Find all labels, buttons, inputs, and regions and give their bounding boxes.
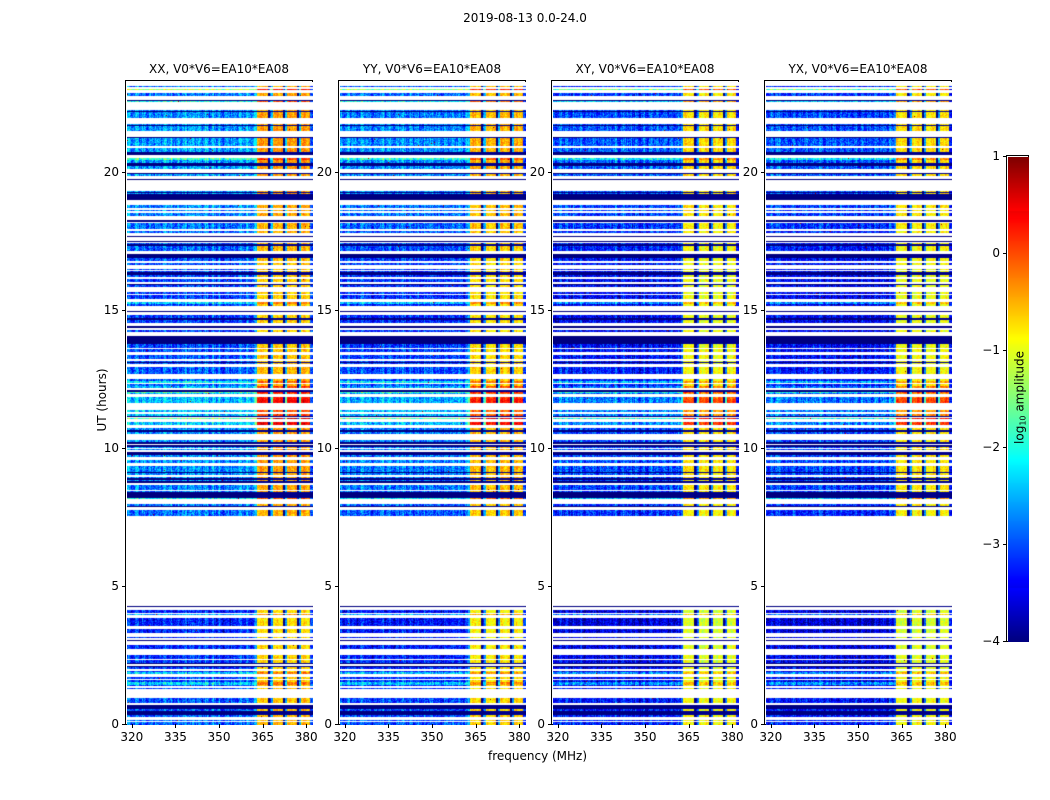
colorbar-label: log10 amplitude [1013,337,1028,457]
y-tick-label-20: 20 [93,165,119,179]
x-axis-label: frequency (MHz) [488,749,587,763]
x-tick-label-320: 320 [546,730,569,744]
y-tickmark [122,448,126,449]
y-tickmark [761,310,765,311]
colorbar-tick-label--2: −2 [982,440,1000,454]
x-tick-label-365: 365 [890,730,913,744]
panel-yx[interactable]: YX, V0*V6=EA10*EA08 [764,80,952,725]
x-tick-label-365: 365 [464,730,487,744]
y-tickmark [122,310,126,311]
heatmap-xx [127,82,313,725]
y-tick-label-10: 10 [306,441,332,455]
colorbar-label-subscript: 10 [1019,415,1028,425]
x-tick-label-320: 320 [120,730,143,744]
y-tickmark [761,448,765,449]
y-tickmark [548,310,552,311]
x-tick-label-320: 320 [759,730,782,744]
x-tickmark [345,724,346,728]
x-tickmark [814,724,815,728]
colorbar-tickmark [1003,350,1007,351]
y-tickmark [548,172,552,173]
colorbar-tickmark [1003,641,1007,642]
y-tick-label-20: 20 [306,165,332,179]
x-tick-label-320: 320 [333,730,356,744]
panel-title-xx: XX, V0*V6=EA10*EA08 [149,62,289,76]
y-tick-label-15: 15 [732,303,758,317]
y-tickmark [335,310,339,311]
x-tickmark [219,724,220,728]
y-tick-label-5: 5 [732,579,758,593]
colorbar-tickmark [1003,544,1007,545]
y-tickmark [548,724,552,725]
x-tick-label-335: 335 [590,730,613,744]
y-tickmark [335,586,339,587]
colorbar-tick-label-1: 1 [992,149,1000,163]
x-tickmark [689,724,690,728]
heatmap-yy [340,82,526,725]
panel-title-xy: XY, V0*V6=EA10*EA08 [575,62,714,76]
colorbar-tickmark [1003,253,1007,254]
colorbar-tick-label--4: −4 [982,634,1000,648]
y-tickmark [335,448,339,449]
x-tick-label-350: 350 [634,730,657,744]
y-tick-label-10: 10 [732,441,758,455]
x-tickmark [388,724,389,728]
figure-suptitle: 2019-08-13 0.0-24.0 [0,11,1050,25]
x-tick-label-350: 350 [847,730,870,744]
x-tickmark [645,724,646,728]
x-tick-label-350: 350 [421,730,444,744]
x-tick-label-365: 365 [677,730,700,744]
x-tickmark [263,724,264,728]
x-tickmark [945,724,946,728]
colorbar-tickmark [1003,156,1007,157]
panel-title-yy: YY, V0*V6=EA10*EA08 [363,62,501,76]
y-tick-label-0: 0 [306,717,332,731]
y-tick-label-5: 5 [93,579,119,593]
x-tickmark [432,724,433,728]
colorbar-tick-label--1: −1 [982,343,1000,357]
y-tickmark [122,724,126,725]
x-tickmark [858,724,859,728]
x-tickmark [771,724,772,728]
x-tickmark [476,724,477,728]
y-tick-label-15: 15 [93,303,119,317]
y-tickmark [548,448,552,449]
x-tick-label-380: 380 [295,730,318,744]
y-tick-label-0: 0 [519,717,545,731]
x-tick-label-365: 365 [251,730,274,744]
panel-xx[interactable]: XX, V0*V6=EA10*EA08 [125,80,313,725]
y-tick-label-5: 5 [519,579,545,593]
y-tick-label-15: 15 [306,303,332,317]
x-tickmark [558,724,559,728]
y-axis-label: UT (hours) [95,345,109,455]
x-tickmark [601,724,602,728]
y-tickmark [335,724,339,725]
heatmap-yx [766,82,952,725]
colorbar-tick-label-0: 0 [992,246,1000,260]
y-tickmark [761,586,765,587]
y-tick-label-5: 5 [306,579,332,593]
colorbar-label-suffix: amplitude [1013,351,1027,415]
panel-yy[interactable]: YY, V0*V6=EA10*EA08 [338,80,526,725]
x-tick-label-380: 380 [508,730,531,744]
colorbar-tickmark [1003,447,1007,448]
y-tickmark [122,172,126,173]
x-tick-label-335: 335 [164,730,187,744]
panel-title-yx: YX, V0*V6=EA10*EA08 [788,62,927,76]
y-tick-label-10: 10 [519,441,545,455]
x-tickmark [902,724,903,728]
x-tick-label-380: 380 [721,730,744,744]
x-tick-label-335: 335 [803,730,826,744]
panel-xy[interactable]: XY, V0*V6=EA10*EA08 [551,80,739,725]
y-tick-label-20: 20 [519,165,545,179]
x-tick-label-380: 380 [934,730,957,744]
y-tick-label-0: 0 [93,717,119,731]
y-tick-label-20: 20 [732,165,758,179]
x-tickmark [175,724,176,728]
colorbar-label-prefix: log [1013,425,1027,443]
y-tickmark [335,172,339,173]
y-tickmark [761,172,765,173]
x-tick-label-335: 335 [377,730,400,744]
colorbar-tick-label--3: −3 [982,537,1000,551]
y-tickmark [548,586,552,587]
y-tick-label-0: 0 [732,717,758,731]
y-tickmark [761,724,765,725]
y-tickmark [122,586,126,587]
figure-canvas: 2019-08-13 0.0-24.0 XX, V0*V6=EA10*EA08 … [0,0,1050,800]
x-tick-label-350: 350 [208,730,231,744]
x-tickmark [132,724,133,728]
heatmap-xy [553,82,739,725]
y-tick-label-15: 15 [519,303,545,317]
